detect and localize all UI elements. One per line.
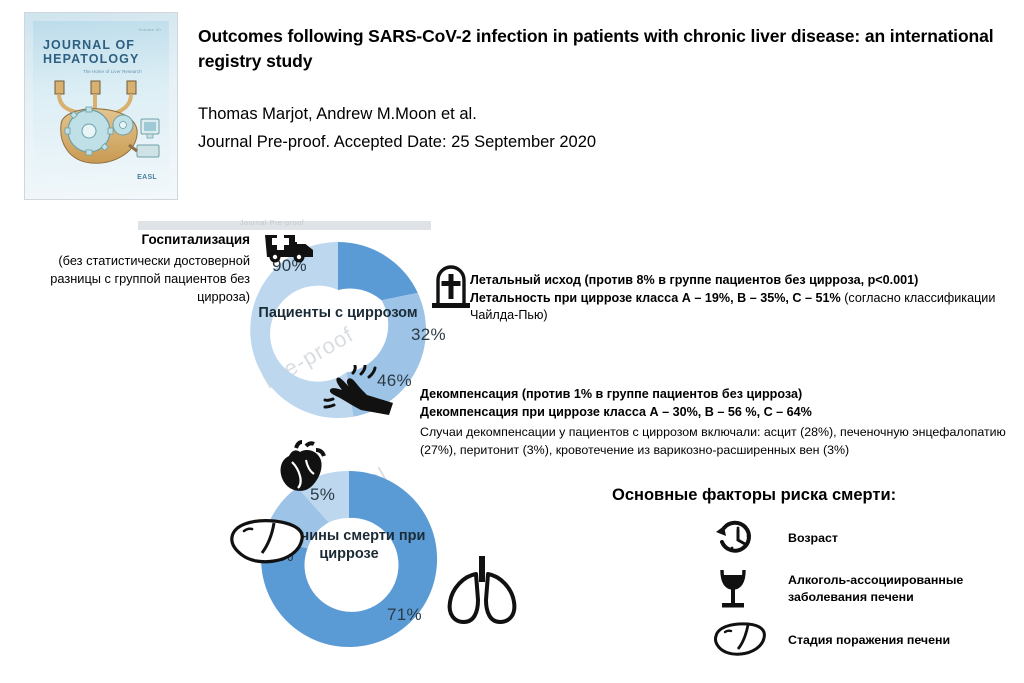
risk-factor-row-liver-stage: Стадия поражения печени [712, 620, 950, 660]
mortality-line-2-bold: Летальность при циррозе класса А – 19%, … [470, 291, 841, 305]
hospitalisation-note: (без статистически достоверной разницы с… [20, 252, 250, 306]
clock-icon [712, 518, 758, 558]
risk-factor-label-alcohol: Алкоголь-ассоциированные заболевания печ… [788, 572, 1018, 606]
wine-glass-icon [712, 566, 754, 612]
decompensation-line-1: Декомпенсация (против 1% в группе пациен… [420, 386, 1020, 404]
donut1-value-mortality: 32% [411, 325, 446, 345]
risk-factors-block: Основные факторы риска смерти: [612, 486, 1012, 505]
hospitalisation-callout: Госпитализация (без статистически достов… [20, 232, 250, 306]
page-title: Outcomes following SARS-CoV-2 infection … [198, 24, 998, 74]
donut1-segment-mortality [338, 242, 418, 300]
liver-icon [712, 620, 768, 660]
decompensation-callout: Декомпенсация (против 1% в группе пациен… [420, 386, 1020, 459]
heart-icon [276, 440, 334, 496]
hospitalisation-title: Госпитализация [20, 232, 250, 247]
risk-icon-slot-age [712, 518, 772, 558]
risk-factor-row-age: Возраст [712, 518, 838, 558]
journal-cover-logo: EASL [137, 174, 157, 181]
authors-line: Thomas Marjot, Andrew M.Moon et al. [198, 101, 477, 128]
mortality-line-1: Летальный исход (против 8% в группе паци… [470, 272, 1018, 290]
journal-cover-issue: Volume 00 [138, 27, 161, 32]
risk-factor-row-alcohol: Алкоголь-ассоциированные заболевания печ… [712, 566, 1018, 612]
donut2-value-respiratory: 71% [387, 605, 422, 625]
decompensation-line-2: Декомпенсация при циррозе класса А – 30%… [420, 404, 1020, 422]
mortality-callout: Летальный исход (против 8% в группе паци… [470, 272, 1018, 325]
journal-cover-title: JOURNAL OF HEPATOLOGY [43, 38, 163, 66]
ambulance-icon [263, 229, 319, 263]
risk-icon-slot-liver-stage [712, 620, 772, 660]
title-block: Outcomes following SARS-CoV-2 infection … [198, 24, 998, 74]
mortality-line-2: Летальность при циррозе класса А – 19%, … [470, 290, 1018, 325]
journal-cover-inner: Volume 00 JOURNAL OF HEPATOLOGY The Home… [33, 21, 169, 191]
journal-cover-image: Volume 00 JOURNAL OF HEPATOLOGY The Home… [24, 12, 178, 200]
risk-factors-title: Основные факторы риска смерти: [612, 486, 1012, 505]
decompensation-line-3: Случаи декомпенсации у пациентов с цирро… [420, 423, 1020, 459]
journal-cover-artwork [33, 73, 169, 183]
liver-icon [222, 515, 308, 571]
header: Volume 00 JOURNAL OF HEPATOLOGY The Home… [0, 0, 1024, 210]
lungs-icon [440, 554, 524, 626]
trembling-hand-icon [323, 365, 395, 417]
publication-status-line: Journal Pre-proof. Accepted Date: 25 Sep… [198, 129, 596, 156]
risk-factor-label-liver-stage: Стадия поражения печени [788, 632, 950, 649]
watermark-bar-text: Journal Pre-proof [240, 220, 304, 227]
risk-icon-slot-alcohol [712, 566, 772, 612]
tombstone-icon [430, 262, 472, 308]
risk-factor-label-age: Возраст [788, 530, 838, 547]
